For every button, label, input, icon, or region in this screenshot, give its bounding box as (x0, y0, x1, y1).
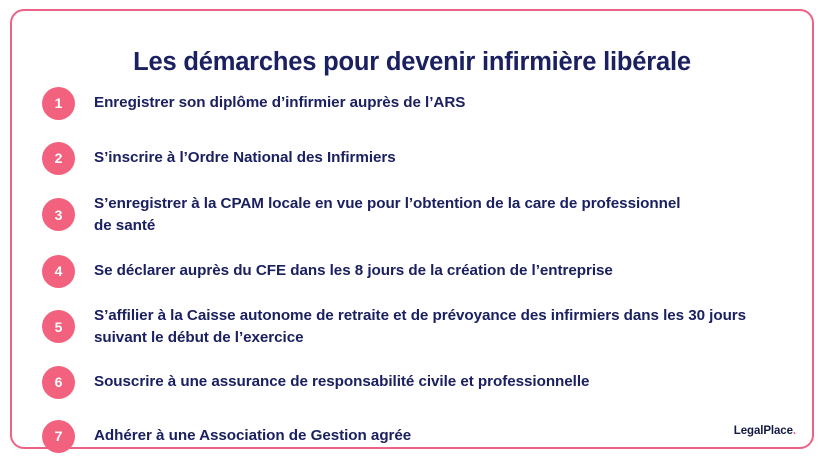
step-number-badge: 4 (42, 255, 75, 288)
step-number-badge: 2 (42, 142, 75, 175)
step-number-label: 5 (55, 320, 63, 334)
steps-list: 1 Enregistrer son diplôme d’infirmier au… (42, 86, 794, 453)
step-number-badge: 1 (42, 87, 75, 120)
step-number-label: 3 (55, 208, 63, 222)
step-number-label: 2 (55, 151, 63, 165)
legalplace-logo: LegalPlace. (734, 426, 796, 438)
list-item: 5 S’affilier à la Caisse autonome de ret… (42, 305, 794, 348)
step-text: Enregistrer son diplôme d’infirmier aupr… (94, 92, 465, 114)
list-item: 4 Se déclarer auprès du CFE dans les 8 j… (42, 254, 794, 288)
step-number-badge: 3 (42, 198, 75, 231)
page-title: Les démarches pour devenir infirmière li… (0, 46, 824, 78)
logo-wordmark: LegalPlace (734, 425, 793, 437)
list-item: 3 S’enregistrer à la CPAM locale en vue … (42, 193, 794, 236)
step-text: S’enregistrer à la CPAM locale en vue po… (94, 193, 694, 236)
step-text: S’affilier à la Caisse autonome de retra… (94, 305, 784, 348)
step-text: Souscrire à une assurance de responsabil… (94, 371, 589, 393)
step-number-badge: 5 (42, 310, 75, 343)
list-item: 2 S’inscrire à l’Ordre National des Infi… (42, 141, 794, 175)
list-item: 7 Adhérer à une Association de Gestion a… (42, 419, 794, 453)
step-number-label: 1 (55, 96, 63, 110)
step-text: Se déclarer auprès du CFE dans les 8 jou… (94, 260, 613, 282)
step-number-badge: 6 (42, 366, 75, 399)
logo-dot: . (793, 425, 796, 437)
step-number-label: 4 (55, 264, 63, 278)
step-text: S’inscrire à l’Ordre National des Infirm… (94, 147, 396, 169)
infographic-canvas: Les démarches pour devenir infirmière li… (0, 0, 824, 458)
list-item: 6 Souscrire à une assurance de responsab… (42, 365, 794, 399)
step-number-badge: 7 (42, 420, 75, 453)
list-item: 1 Enregistrer son diplôme d’infirmier au… (42, 86, 794, 120)
step-text: Adhérer à une Association de Gestion agr… (94, 425, 411, 447)
step-number-label: 6 (55, 375, 63, 389)
step-number-label: 7 (55, 429, 63, 443)
